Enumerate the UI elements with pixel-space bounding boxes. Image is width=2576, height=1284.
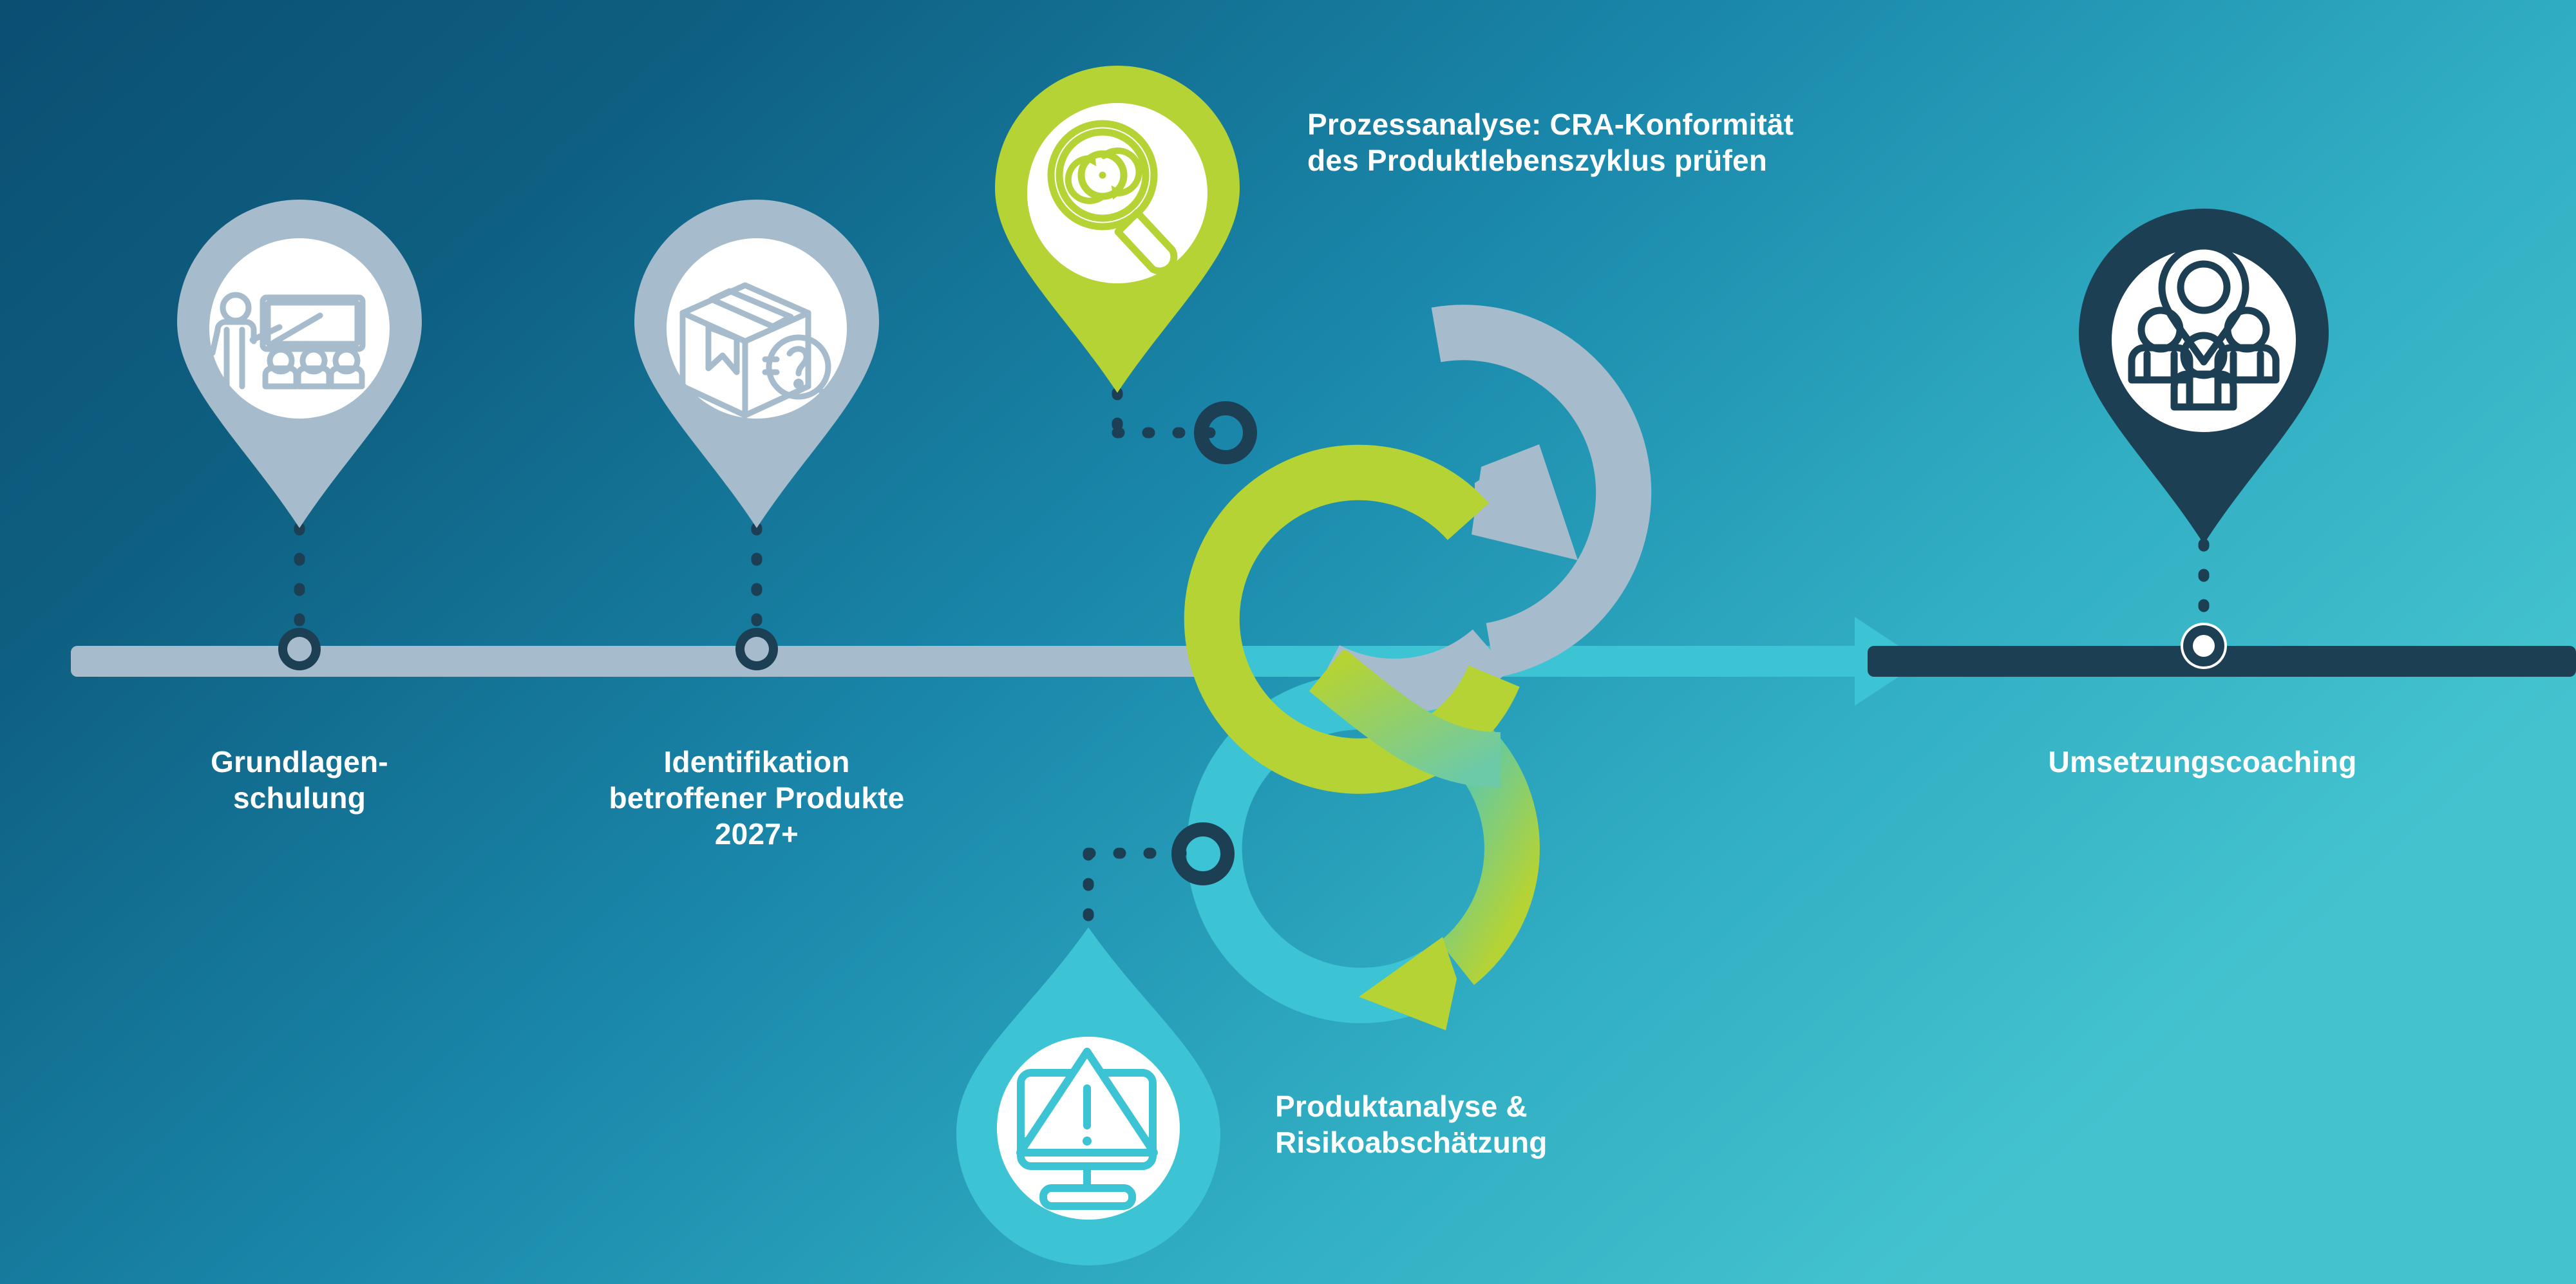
label-identifikation: Identifikation betroffener Produkte 2027…	[515, 744, 998, 852]
label-umsetzungscoaching: Umsetzungscoaching	[1906, 744, 2499, 780]
label-grundlagenschulung: Grundlagen- schulung	[103, 744, 496, 816]
timeline-marker-2-inner	[744, 637, 769, 661]
infographic-root: Grundlagen- schulung Identifikation betr…	[0, 0, 2576, 1284]
label-produktanalyse: Produktanalyse & Risikoabschätzung	[1275, 1088, 1855, 1160]
timeline-marker-1-inner	[287, 637, 312, 661]
label-prozessanalyse: Prozessanalyse: CRA-Konformität des Prod…	[1307, 106, 2067, 178]
timeline-marker-3-inner	[2193, 635, 2215, 657]
